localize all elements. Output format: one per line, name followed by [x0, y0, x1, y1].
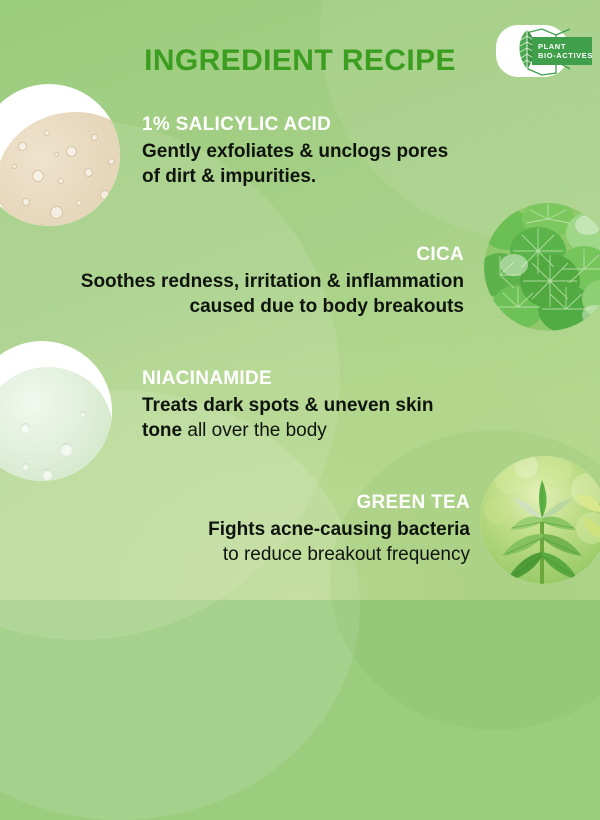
ingredient-body-salicylic-acid: Gently exfoliates & unclogs pores of dir… [142, 139, 482, 190]
green-tea-plant-illustration [480, 456, 600, 584]
ingredient-block-green-tea: GREEN TEA Fights acne-causing bacteria t… [150, 492, 470, 568]
ingredient-image-green-tea [480, 456, 600, 584]
ingredient-heading-salicylic-acid: 1% SALICYLIC ACID [142, 114, 482, 136]
gel-droplet-green [0, 367, 112, 481]
page-title: INGREDIENT RECIPE [0, 44, 600, 78]
ingredient-body-bold-green-tea: Fights acne-causing bacteria [208, 519, 470, 540]
ingredient-block-salicylic-acid: 1% SALICYLIC ACID Gently exfoliates & un… [142, 114, 482, 190]
ingredient-heading-niacinamide: NIACINAMIDE [142, 368, 472, 390]
ingredient-body-rest-cica: caused due to body breakouts [190, 296, 465, 317]
ingredient-block-niacinamide: NIACINAMIDE Treats dark spots & uneven s… [142, 368, 472, 444]
ingredient-body-bold-salicylic-acid: Gently exfoliates & unclogs pores [142, 141, 448, 162]
ingredient-body-cica: Soothes redness, irritation & inflammati… [34, 269, 464, 320]
ingredient-body-green-tea: Fights acne-causing bacteria to reduce b… [150, 517, 470, 568]
ingredient-body-rest-niacinamide: all over the body [182, 420, 327, 441]
gel-swatch-tan [0, 112, 120, 226]
ingredient-heading-green-tea: GREEN TEA [150, 492, 470, 514]
ingredient-body-bold-cica: Soothes redness, irritation & inflammati… [81, 271, 464, 292]
ingredient-body-rest-green-tea: to reduce breakout frequency [223, 544, 470, 565]
ingredient-block-cica: CICA Soothes redness, irritation & infla… [34, 244, 464, 320]
centella-leaves-illustration [484, 203, 600, 331]
ingredient-body-niacinamide: Treats dark spots & uneven skin tone all… [142, 393, 472, 444]
ingredient-image-cica [484, 203, 600, 331]
ingredient-body-rest-salicylic-acid: of dirt & impurities. [142, 166, 316, 187]
ingredient-heading-cica: CICA [34, 244, 464, 266]
